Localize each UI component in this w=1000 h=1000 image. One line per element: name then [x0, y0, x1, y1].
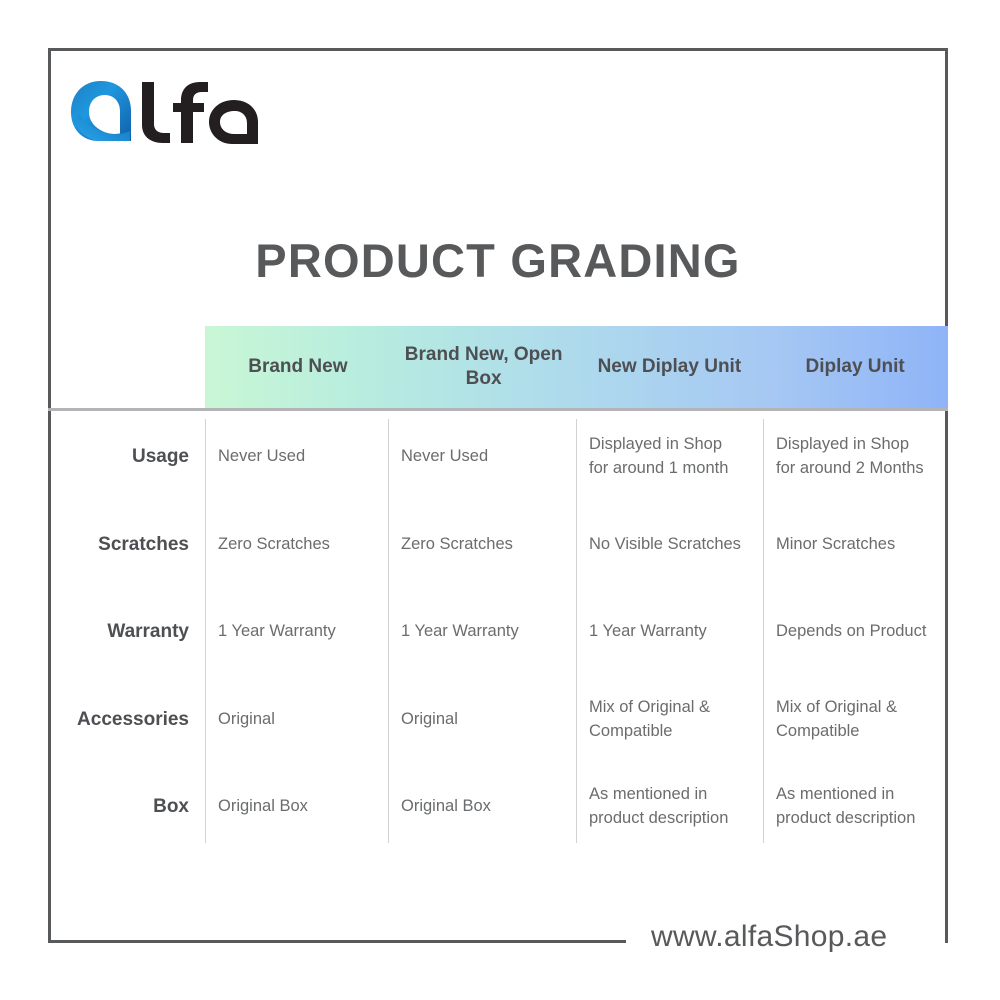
table-row: Box Original Box Original Box As mention…	[48, 763, 948, 850]
column-header-brand-new-open-box: Brand New, Open Box	[391, 326, 577, 408]
column-header-display-unit: Diplay Unit	[762, 326, 948, 408]
cell-box-display-unit: As mentioned in product description	[763, 763, 948, 850]
column-header-new-display-unit: New Diplay Unit	[577, 326, 763, 408]
row-label-box: Box	[48, 763, 205, 850]
column-header-brand-new: Brand New	[205, 326, 391, 408]
cell-warranty-brand-new: 1 Year Warranty	[205, 588, 388, 675]
table-row: Scratches Zero Scratches Zero Scratches …	[48, 501, 948, 588]
cell-usage-new-display-unit: Displayed in Shop for around 1 month	[576, 413, 763, 500]
table-row: Accessories Original Original Mix of Ori…	[48, 676, 948, 763]
table-body: Usage Never Used Never Used Displayed in…	[48, 411, 948, 843]
frame-border-bottom	[48, 940, 626, 943]
row-label-scratches: Scratches	[48, 501, 205, 588]
page-title: PRODUCT GRADING	[48, 233, 948, 288]
cell-accessories-new-display-unit: Mix of Original & Compatible	[576, 676, 763, 763]
cell-accessories-brand-new-open-box: Original	[388, 676, 576, 763]
cell-scratches-display-unit: Minor Scratches	[763, 501, 948, 588]
cell-box-brand-new-open-box: Original Box	[388, 763, 576, 850]
cell-warranty-display-unit: Depends on Product	[763, 588, 948, 675]
cell-accessories-display-unit: Mix of Original & Compatible	[763, 676, 948, 763]
cell-box-brand-new: Original Box	[205, 763, 388, 850]
row-label-warranty: Warranty	[48, 588, 205, 675]
product-grading-infographic: PRODUCT GRADING Brand New Brand New, Ope…	[0, 0, 1000, 1000]
row-label-usage: Usage	[48, 413, 205, 500]
cell-box-new-display-unit: As mentioned in product description	[576, 763, 763, 850]
table-row: Warranty 1 Year Warranty 1 Year Warranty…	[48, 588, 948, 675]
table-row: Usage Never Used Never Used Displayed in…	[48, 413, 948, 500]
frame-border-top	[48, 48, 948, 51]
cell-usage-brand-new-open-box: Never Used	[388, 413, 576, 500]
alfa-logo	[68, 78, 268, 148]
cell-scratches-brand-new-open-box: Zero Scratches	[388, 501, 576, 588]
row-label-accessories: Accessories	[48, 676, 205, 763]
cell-warranty-brand-new-open-box: 1 Year Warranty	[388, 588, 576, 675]
cell-scratches-new-display-unit: No Visible Scratches	[576, 501, 763, 588]
cell-scratches-brand-new: Zero Scratches	[205, 501, 388, 588]
cell-usage-display-unit: Displayed in Shop for around 2 Months	[763, 413, 948, 500]
cell-warranty-new-display-unit: 1 Year Warranty	[576, 588, 763, 675]
cell-usage-brand-new: Never Used	[205, 413, 388, 500]
table-header-row: Brand New Brand New, Open Box New Diplay…	[205, 326, 948, 408]
website-url: www.alfaShop.ae	[645, 920, 893, 954]
cell-accessories-brand-new: Original	[205, 676, 388, 763]
